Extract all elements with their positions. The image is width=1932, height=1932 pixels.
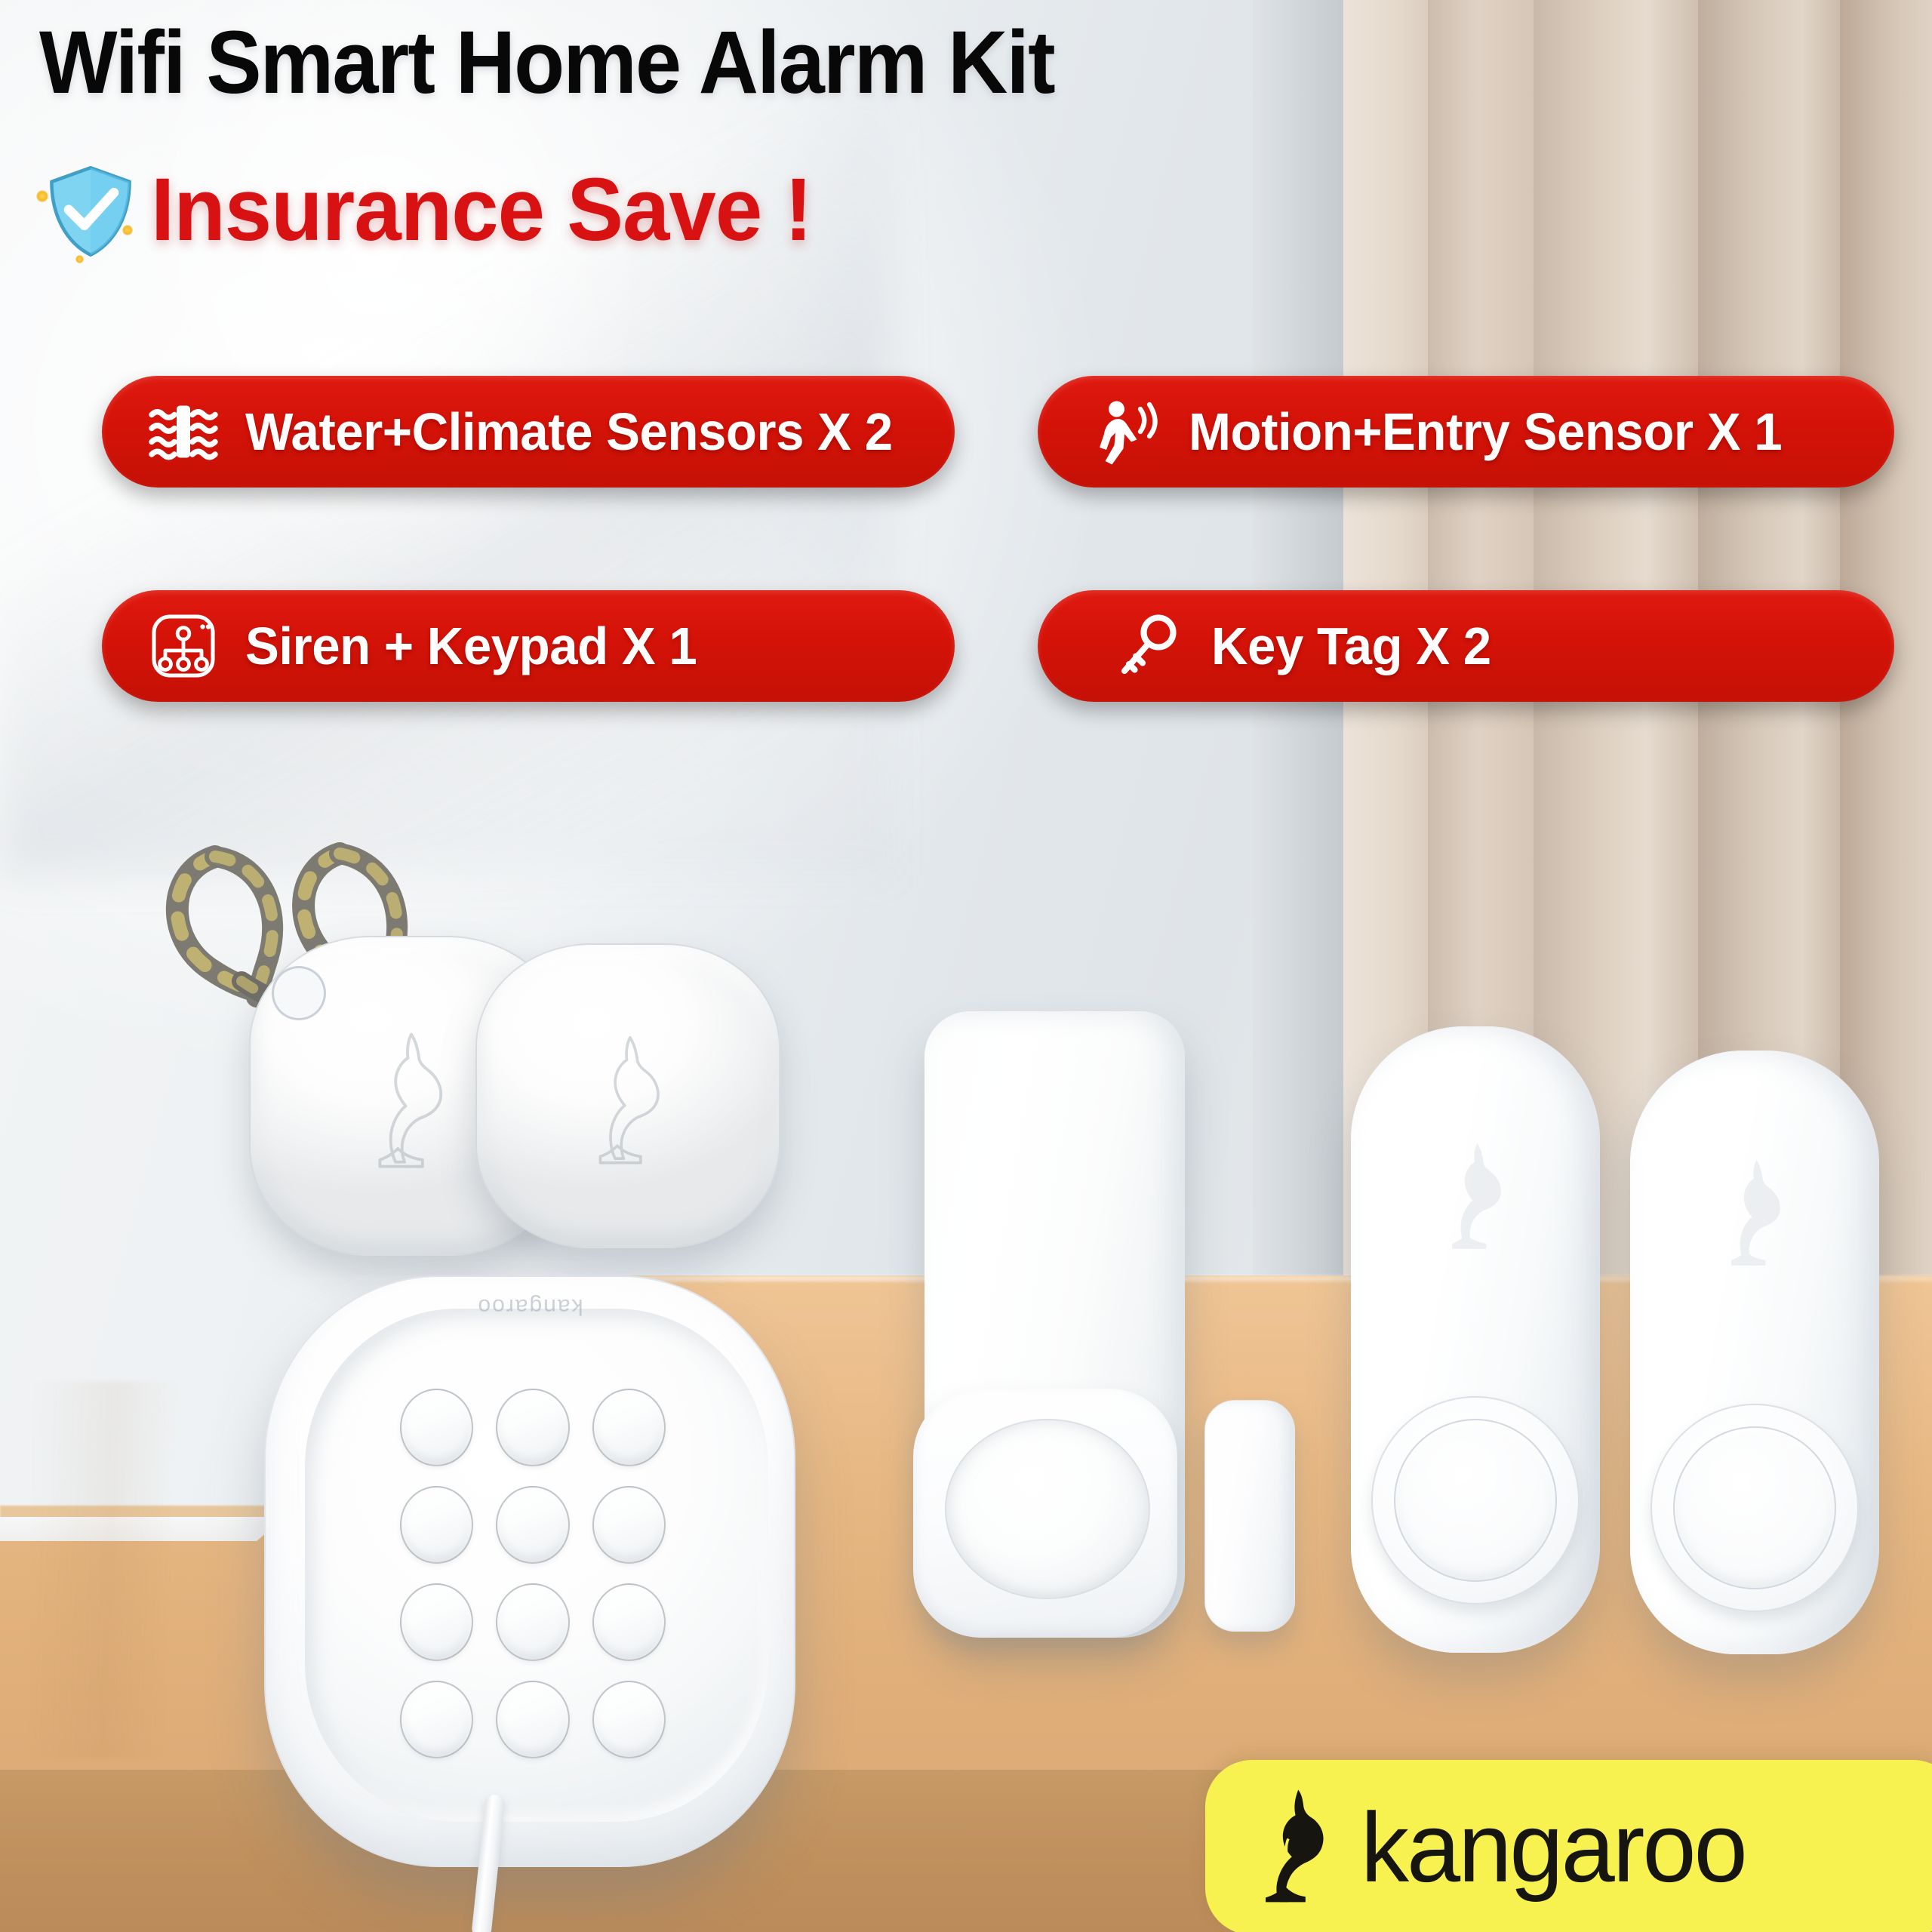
feature-pill-label: Motion+Entry Sensor X 1 (1189, 401, 1782, 462)
water-sensor-button-inner (1673, 1426, 1836, 1589)
keypad-keys (400, 1389, 666, 1758)
keypad-key[interactable] (496, 1486, 569, 1564)
motion-sensor-lens (945, 1419, 1150, 1599)
keypad-key[interactable] (496, 1583, 569, 1661)
feature-pill-water-climate[interactable]: Water+Climate Sensors X 2 (102, 376, 955, 488)
subtitle-row: Insurance Save ! (35, 158, 847, 261)
brand-name: kangaroo (1361, 1791, 1746, 1904)
kangaroo-emboss-icon (1430, 1140, 1521, 1254)
keypad-key[interactable] (400, 1583, 473, 1661)
feature-pill-key-tag[interactable]: Key Tag X 2 (1038, 590, 1894, 702)
feature-row-2: Siren + Keypad X 1 Key Tag X 2 (0, 590, 1932, 702)
water-sensor-button-inner (1394, 1419, 1557, 1582)
kangaroo-emboss-icon (574, 1033, 681, 1169)
keypad-key[interactable] (496, 1389, 569, 1466)
water-sensor-button[interactable] (1651, 1404, 1859, 1612)
page-title: Wifi Smart Home Alarm Kit (39, 18, 1054, 107)
keypad-key[interactable] (592, 1389, 666, 1466)
keypad-key[interactable] (496, 1681, 569, 1758)
key-icon (1113, 610, 1186, 682)
water-climate-sensor-product (1351, 1026, 1600, 1653)
feature-row-1: Water+Climate Sensors X 2 (0, 376, 1932, 488)
key-tag-product (475, 943, 780, 1248)
feature-pill-label: Siren + Keypad X 1 (245, 616, 697, 676)
feature-pill-label: Water+Climate Sensors X 2 (245, 401, 893, 462)
keypad-key[interactable] (400, 1486, 473, 1564)
entry-sensor-magnet (1204, 1400, 1295, 1632)
keypad-key[interactable] (592, 1583, 666, 1661)
keypad-brand-mark: kangaroo (476, 1294, 583, 1319)
kangaroo-emboss-icon (352, 1030, 466, 1174)
siren-keypad-product: kangaroo (264, 1275, 795, 1867)
curtain-fold (1253, 0, 1352, 1419)
shield-check-icon (35, 160, 134, 260)
feature-pill-label: Key Tag X 2 (1211, 616, 1491, 676)
key-tag-hole (272, 966, 326, 1020)
kangaroo-silhouette-icon (1247, 1787, 1338, 1909)
siren-keypad-hub-icon (147, 610, 220, 682)
motion-walking-waves-icon (1091, 395, 1163, 468)
feature-pill-motion-entry[interactable]: Motion+Entry Sensor X 1 (1038, 376, 1894, 488)
brand-logo-banner: kangaroo (1205, 1760, 1932, 1932)
keypad-key[interactable] (400, 1681, 473, 1758)
subtitle-text: Insurance Save ! (151, 158, 812, 261)
keypad-key[interactable] (592, 1681, 666, 1758)
product-poster: Wifi Smart Home Alarm Kit Insurance Save… (0, 0, 1932, 1932)
water-climate-sensor-icon (147, 395, 220, 468)
keypad-key[interactable] (400, 1389, 473, 1466)
water-sensor-button[interactable] (1371, 1396, 1580, 1604)
feature-pill-siren-keypad[interactable]: Siren + Keypad X 1 (102, 590, 955, 702)
keypad-key[interactable] (592, 1486, 666, 1564)
kangaroo-emboss-icon (1709, 1156, 1800, 1271)
water-climate-sensor-product (1630, 1051, 1879, 1654)
